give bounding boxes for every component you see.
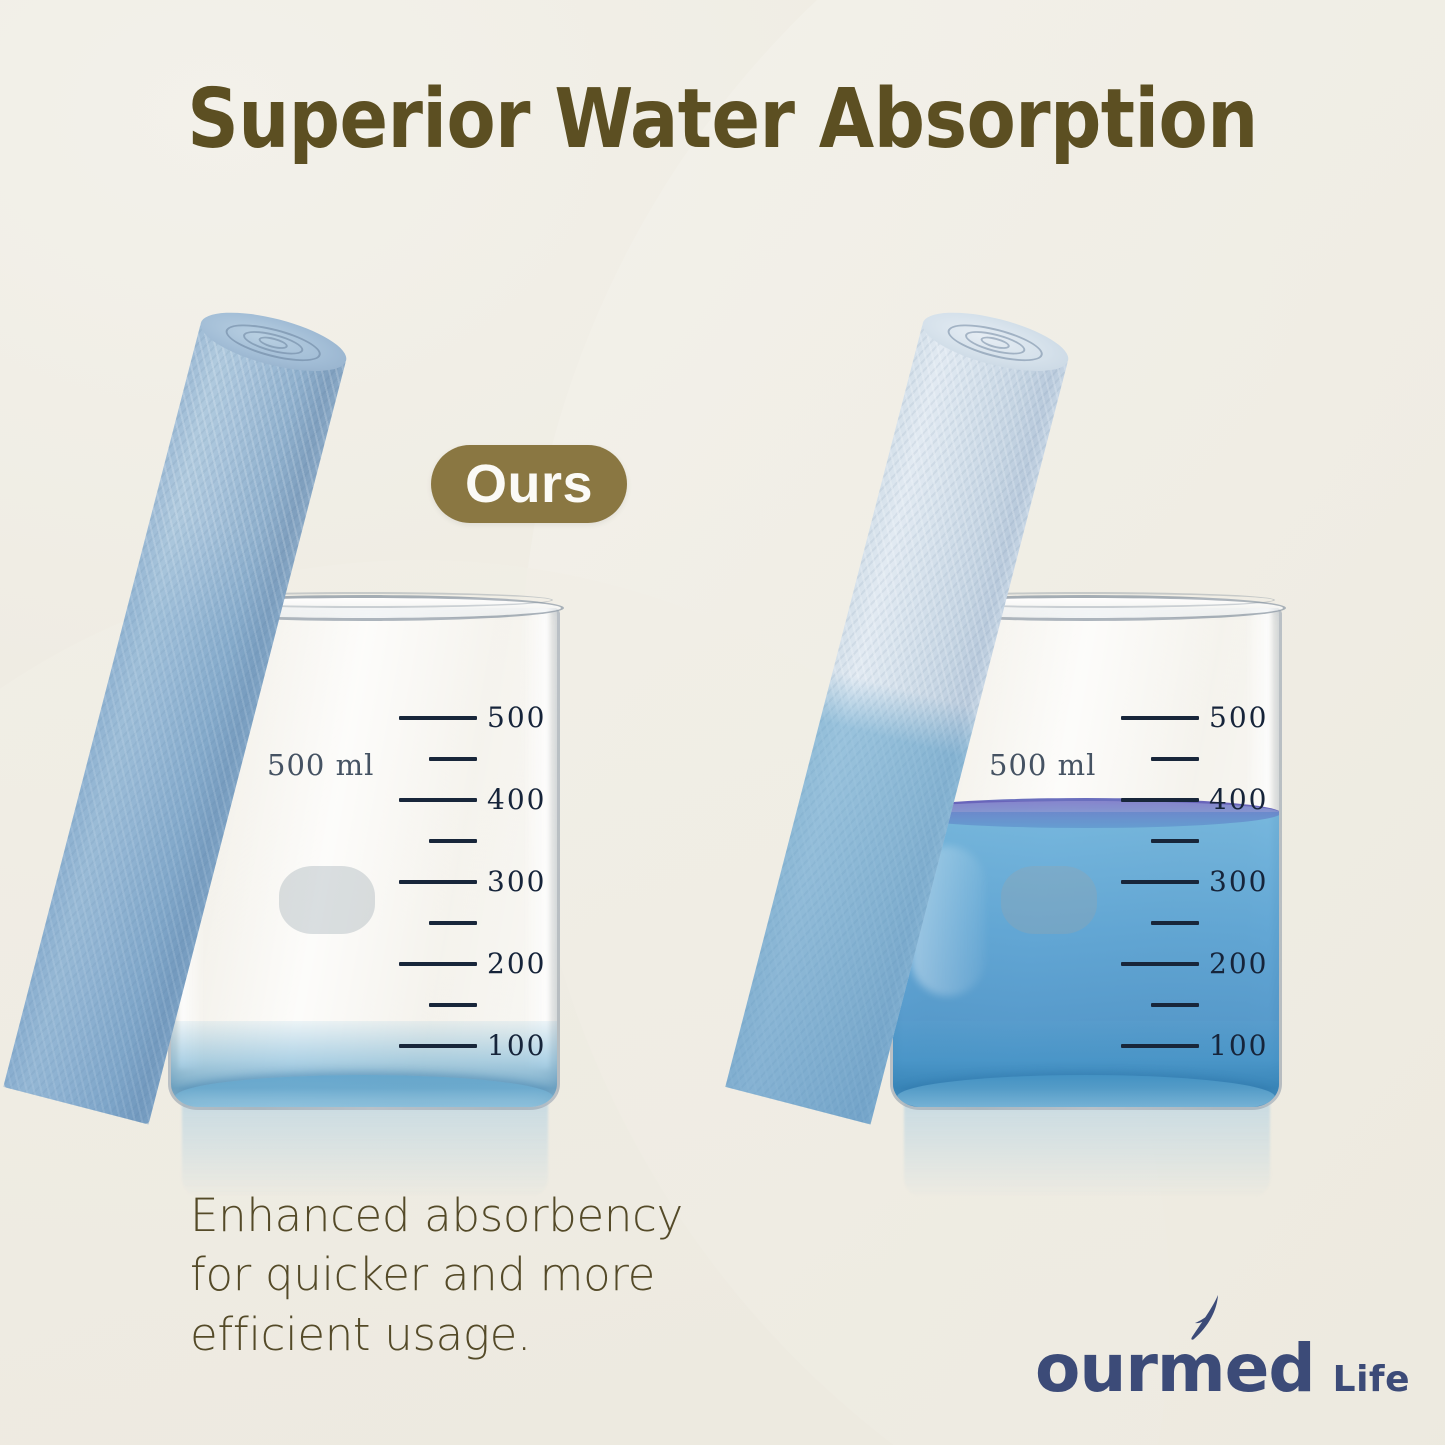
graduation-100: 100	[1121, 1044, 1271, 1048]
graduation-450	[1121, 757, 1271, 761]
tick-mark	[1151, 839, 1199, 843]
caption-ours: Enhanced absorbency for quicker and more…	[190, 1186, 710, 1364]
tick-mark	[1121, 1044, 1199, 1048]
graduation-500: 500	[399, 716, 549, 720]
graduation-350	[399, 839, 549, 843]
tick-mark	[1121, 880, 1199, 884]
beaker-reflection	[904, 1102, 1270, 1198]
tick-mark	[399, 798, 477, 802]
tick-mark	[399, 1044, 477, 1048]
graduation-350	[1121, 839, 1271, 843]
graduation-label: 100	[487, 1032, 546, 1060]
graduation-150	[1121, 1003, 1271, 1007]
tick-mark	[429, 757, 477, 761]
graduation-250	[1121, 921, 1271, 925]
tick-mark	[399, 880, 477, 884]
comparison-panel-ours: 500 ml 500 400	[0, 0, 722, 1445]
comparison-panel-others: 500 ml 500 400	[722, 0, 1444, 1445]
graduation-label: 300	[1209, 868, 1268, 896]
tick-mark	[1151, 757, 1199, 761]
tick-mark	[1121, 962, 1199, 966]
graduation-150	[399, 1003, 549, 1007]
graduation-scale: 500 400 300	[1121, 716, 1271, 1046]
infographic-canvas: Superior Water Absorption 500 ml 500	[0, 0, 1445, 1445]
graduation-label: 300	[487, 868, 546, 896]
graduation-label: 200	[1209, 950, 1268, 978]
graduation-label: 200	[487, 950, 546, 978]
graduation-label: 500	[487, 704, 546, 732]
graduation-label: 400	[487, 786, 546, 814]
graduation-200: 200	[1121, 962, 1271, 966]
brand-wordmark: ourmed	[1035, 1330, 1315, 1407]
tick-mark	[1151, 1003, 1199, 1007]
tick-mark	[429, 1003, 477, 1007]
graduation-label: 500	[1209, 704, 1268, 732]
tick-mark	[1121, 798, 1199, 802]
graduation-label: 100	[1209, 1032, 1268, 1060]
graduation-450	[399, 757, 549, 761]
tick-mark	[1151, 921, 1199, 925]
graduation-500: 500	[1121, 716, 1271, 720]
graduation-200: 200	[399, 962, 549, 966]
graduation-400: 400	[399, 798, 549, 802]
graduation-300: 300	[399, 880, 549, 884]
graduation-250	[399, 921, 549, 925]
tick-mark	[399, 716, 477, 720]
beaker-capacity-label: 500 ml	[989, 748, 1096, 782]
beaker-capacity-label: 500 ml	[267, 748, 374, 782]
graduation-scale: 500 400 300	[399, 716, 549, 1046]
tick-mark	[429, 839, 477, 843]
tick-mark	[399, 962, 477, 966]
beaker-sticker	[279, 866, 375, 934]
leaf-icon	[1187, 1294, 1221, 1346]
tick-mark	[1121, 716, 1199, 720]
beaker-reflection	[182, 1102, 548, 1198]
beaker-sticker	[1001, 866, 1097, 934]
badge-ours[interactable]: Ours	[431, 445, 627, 523]
graduation-300: 300	[1121, 880, 1271, 884]
graduation-label: 400	[1209, 786, 1268, 814]
brand-suffix: Life	[1333, 1359, 1410, 1400]
brand-logo[interactable]: ourmed Life	[1035, 1330, 1410, 1407]
graduation-400: 400	[1121, 798, 1271, 802]
tick-mark	[429, 921, 477, 925]
graduation-100: 100	[399, 1044, 549, 1048]
